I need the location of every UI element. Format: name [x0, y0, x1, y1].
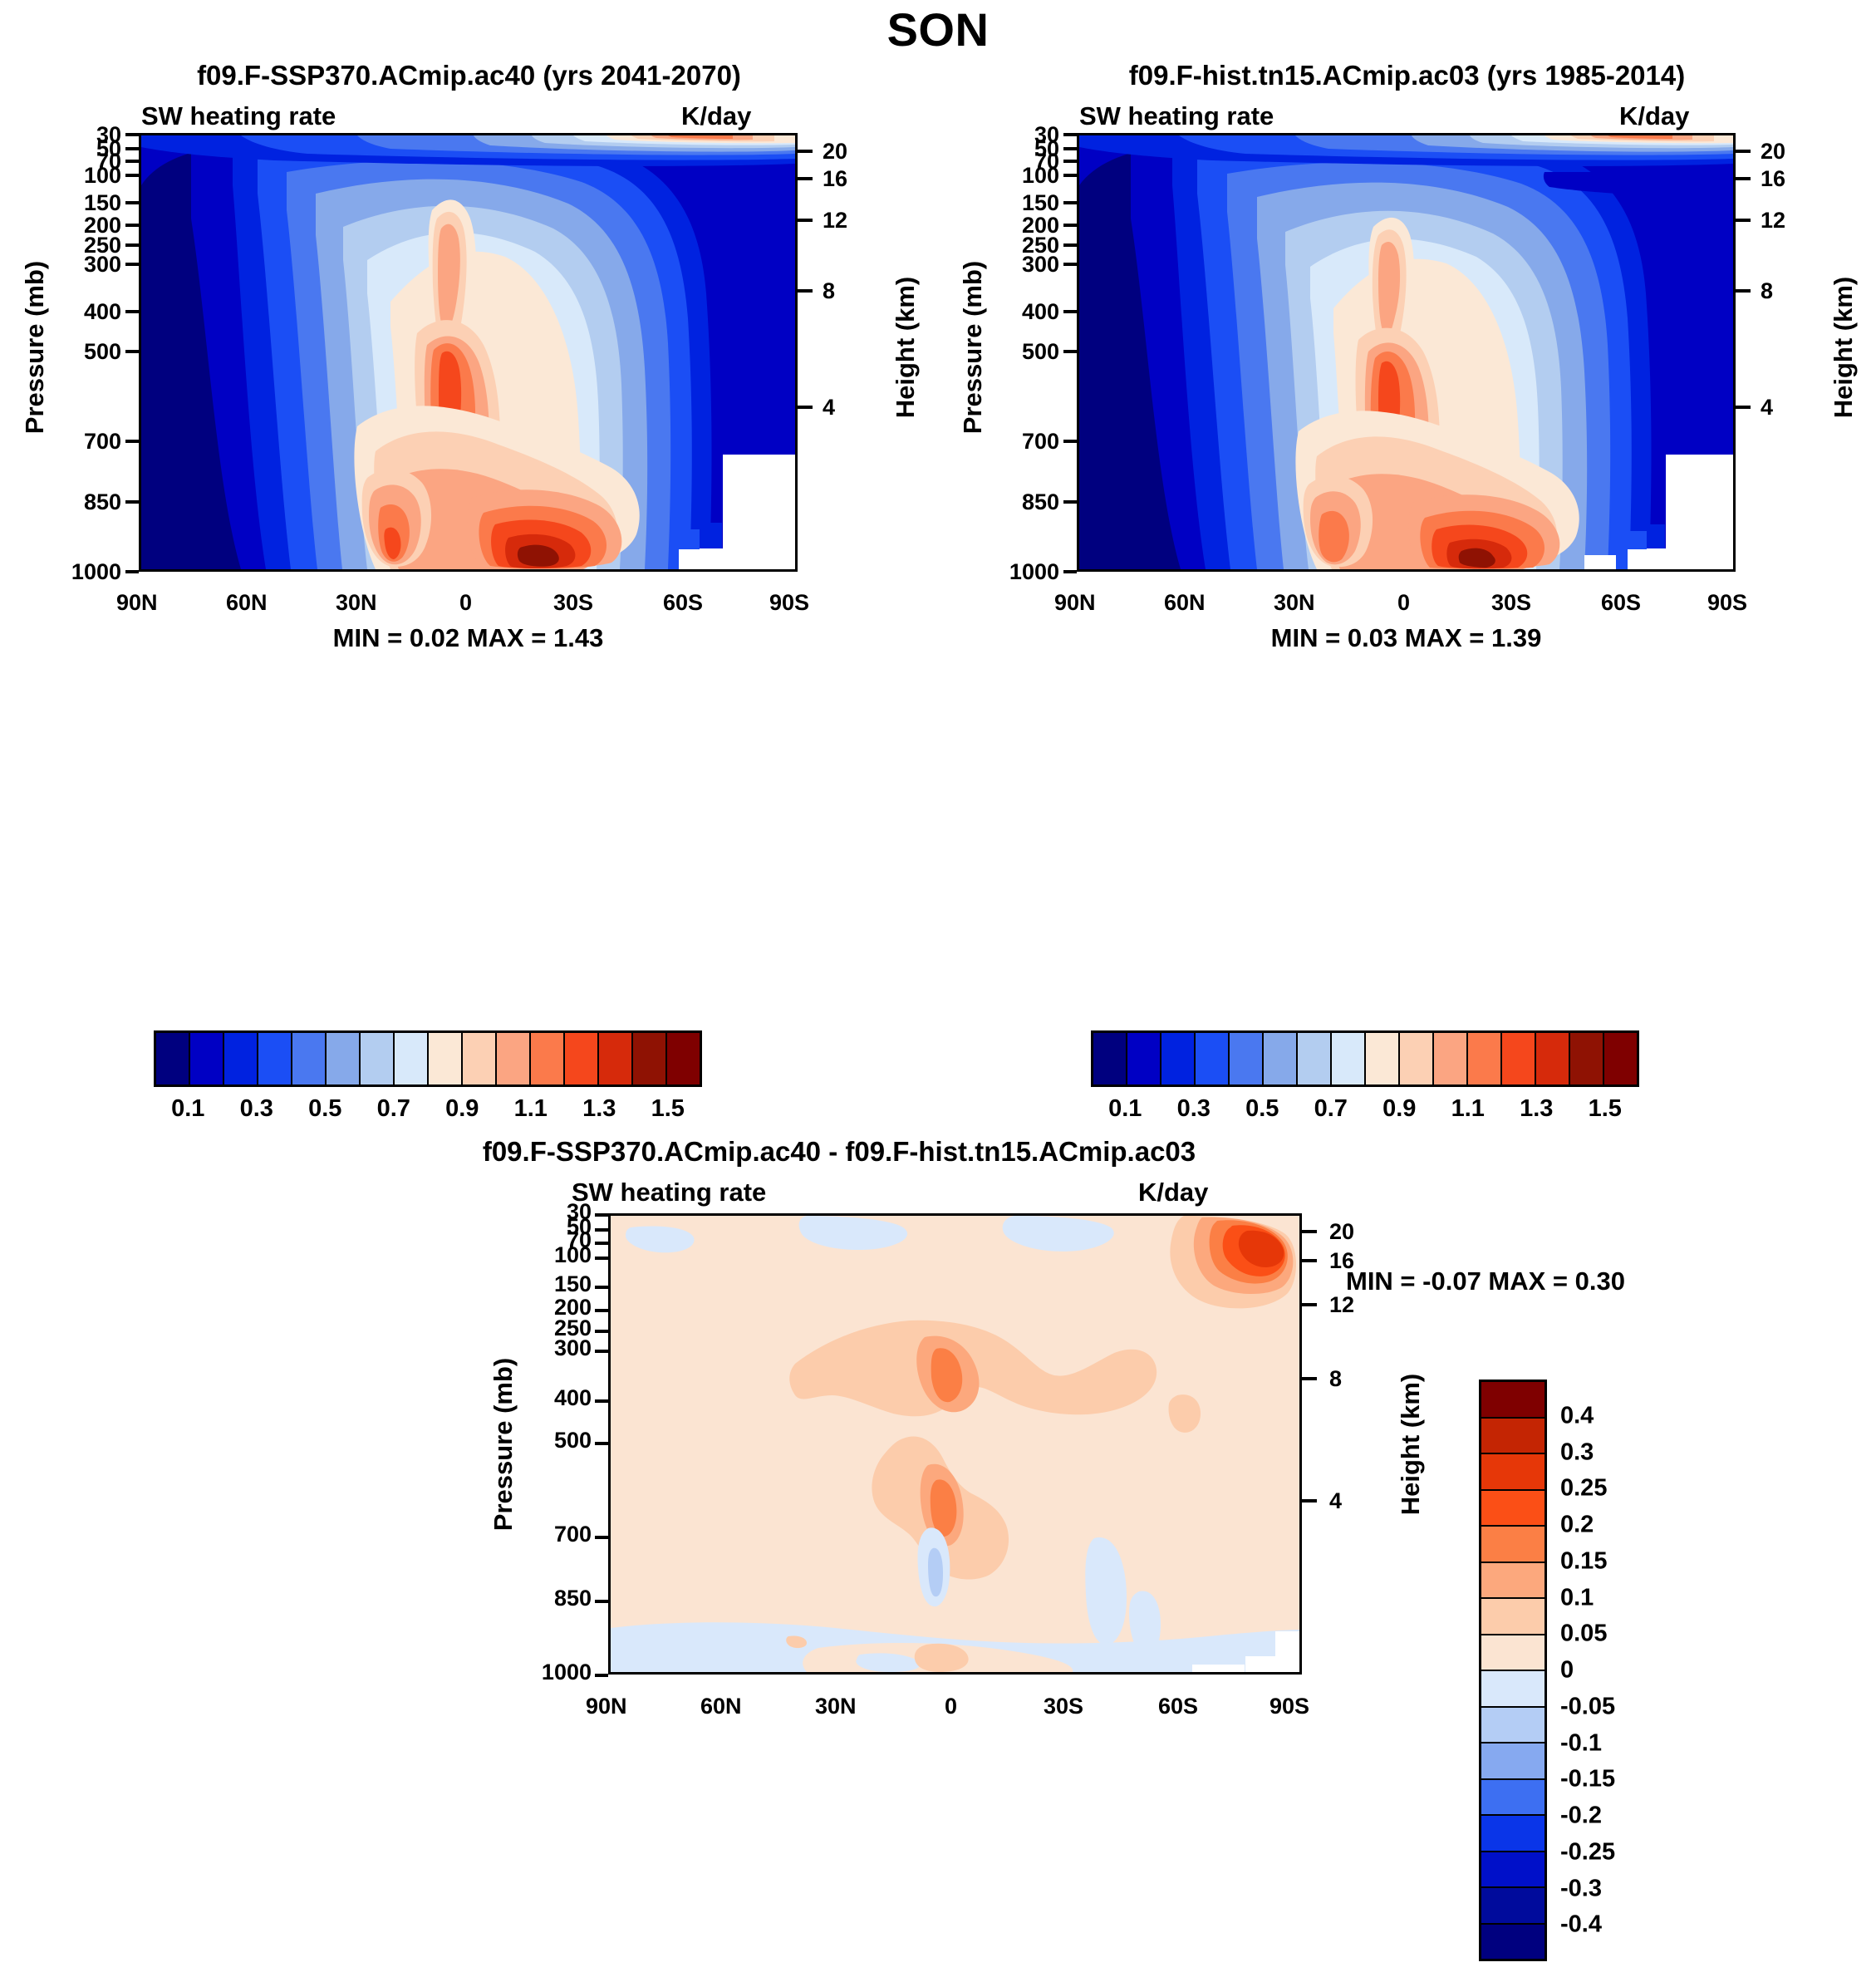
- ytick-label: 100: [520, 1242, 592, 1268]
- xtick-label: 90S: [769, 590, 809, 616]
- colorbar-swatch: [1481, 1635, 1545, 1672]
- rtick-label: 20: [823, 139, 847, 165]
- colorbar-swatch: [1536, 1033, 1570, 1084]
- colorbar-swatch: [565, 1033, 599, 1084]
- colorbar-tick-label: 0.9: [1382, 1095, 1416, 1123]
- ytick-label: 400: [50, 299, 121, 325]
- panel-bottom-diff: f09.F-SSP370.ACmip.ac40 - f09.F-hist.tn1…: [366, 1126, 1363, 1982]
- colorbar-swatch: [1366, 1033, 1400, 1084]
- contour-field-top-left: [141, 135, 795, 569]
- panel-units-bottom: K/day: [1138, 1178, 1208, 1207]
- xtick-label: 60N: [226, 590, 268, 616]
- xtick-label: 60S: [1601, 590, 1641, 616]
- ytick-label: 400: [988, 299, 1059, 325]
- xtick-label: 30N: [1274, 590, 1315, 616]
- panel-varlabel-top-left: SW heating rate: [141, 101, 336, 131]
- raxis-title-bottom: Height (km): [1396, 1336, 1426, 1552]
- colorbar-tick-label: -0.3: [1560, 1875, 1602, 1902]
- xtick-label: 60S: [1158, 1694, 1198, 1719]
- colorbar-swatch: [1468, 1033, 1502, 1084]
- colorbar-tick-label: 1.1: [1451, 1095, 1485, 1123]
- xtick-label: 60N: [1164, 590, 1206, 616]
- figure-super-title: SON: [0, 0, 1876, 55]
- panel-title-bottom: f09.F-SSP370.ACmip.ac40 - f09.F-hist.tn1…: [366, 1136, 1313, 1168]
- ytick-label: 400: [520, 1385, 592, 1411]
- colorbar-swatch: [1093, 1033, 1127, 1084]
- colorbar-swatch: [224, 1033, 258, 1084]
- xtick-label: 30S: [1044, 1694, 1083, 1719]
- ytick-label: 500: [988, 339, 1059, 365]
- xtick-label: 90S: [1707, 590, 1747, 616]
- colorbar-swatch: [1481, 1888, 1545, 1925]
- rtick-label: 12: [1761, 208, 1785, 234]
- xtick-label: 0: [945, 1694, 957, 1719]
- colorbar-tick-label: 0.4: [1560, 1402, 1594, 1429]
- colorbar-tick-label: 0.25: [1560, 1475, 1607, 1502]
- colorbar-swatch: [1481, 1599, 1545, 1635]
- colorbar-swatch: [531, 1033, 565, 1084]
- colorbar-absolute-right-labels: 0.10.30.50.70.91.11.31.5: [1091, 1095, 1639, 1129]
- colorbar-swatch: [1400, 1033, 1434, 1084]
- panel-title-top-right: f09.F-hist.tn15.ACmip.ac03 (yrs 1985-201…: [938, 60, 1876, 91]
- contour-field-top-right: [1079, 135, 1733, 569]
- ytick-label: 1000: [976, 559, 1059, 585]
- colorbar-swatch: [429, 1033, 463, 1084]
- xtick-label: 30N: [815, 1694, 857, 1719]
- colorbar-absolute-right[interactable]: [1091, 1030, 1639, 1087]
- colorbar-swatch: [1332, 1033, 1366, 1084]
- colorbar-swatch: [1481, 1491, 1545, 1527]
- ytick-label: 100: [988, 163, 1059, 189]
- raxis-title-right: Height (km): [1829, 239, 1859, 455]
- xtick-label: 60N: [700, 1694, 742, 1719]
- ytick-label: 1000: [38, 559, 121, 585]
- colorbar-tick-label: -0.2: [1560, 1802, 1602, 1830]
- panel-units-top-left: K/day: [681, 101, 751, 131]
- colorbar-swatch: [1161, 1033, 1196, 1084]
- minmax-bottom-diff: MIN = -0.07 MAX = 0.30: [1346, 1266, 1828, 1296]
- yaxis-title-left: Pressure (mb): [20, 239, 50, 455]
- colorbar-swatch: [1481, 1852, 1545, 1889]
- contour-plot-bottom-diff: [608, 1213, 1302, 1675]
- colorbar-swatch: [361, 1033, 395, 1084]
- xtick-label: 90N: [1054, 590, 1096, 616]
- colorbar-swatch: [1481, 1382, 1545, 1419]
- colorbar-swatch: [1570, 1033, 1604, 1084]
- contour-plot-top-right: [1077, 133, 1736, 572]
- colorbar-swatch: [1434, 1033, 1468, 1084]
- xtick-label: 30S: [553, 590, 593, 616]
- colorbar-tick-label: 0.5: [1245, 1095, 1279, 1123]
- colorbar-swatch: [599, 1033, 633, 1084]
- colorbar-tick-label: 0.1: [1108, 1095, 1142, 1123]
- colorbar-tick-label: 1.1: [514, 1095, 548, 1123]
- yaxis-title-right: Pressure (mb): [958, 239, 988, 455]
- ytick-label: 150: [520, 1271, 592, 1297]
- colorbar-tick-label: 0.1: [1560, 1584, 1594, 1611]
- rtick-label: 20: [1329, 1219, 1354, 1245]
- colorbar-swatch: [1481, 1563, 1545, 1600]
- xtick-label: 0: [459, 590, 472, 616]
- colorbar-tick-label: 0.3: [240, 1095, 273, 1123]
- xtick-label: 0: [1397, 590, 1410, 616]
- ytick-label: 700: [988, 429, 1059, 455]
- ytick-label: 700: [520, 1522, 592, 1547]
- colorbar-swatch: [327, 1033, 361, 1084]
- yaxis-title-bottom: Pressure (mb): [489, 1336, 518, 1552]
- panel-top-left: f09.F-SSP370.ACmip.ac40 (yrs 2041-2070) …: [0, 50, 938, 1147]
- colorbar-tick-label: -0.25: [1560, 1838, 1615, 1866]
- colorbar-swatch: [1298, 1033, 1332, 1084]
- colorbar-swatch: [1196, 1033, 1230, 1084]
- colorbar-swatch: [1230, 1033, 1264, 1084]
- colorbar-tick-label: -0.1: [1560, 1729, 1602, 1757]
- colorbar-tick-label: -0.4: [1560, 1911, 1602, 1939]
- panel-varlabel-top-right: SW heating rate: [1079, 101, 1274, 131]
- xtick-label: 90N: [586, 1694, 627, 1719]
- colorbar-absolute-left[interactable]: [154, 1030, 702, 1087]
- rtick-label: 12: [823, 208, 847, 234]
- rtick-label: 4: [1761, 395, 1773, 420]
- colorbar-tick-label: 0.9: [445, 1095, 479, 1123]
- ytick-label: 300: [520, 1335, 592, 1361]
- contour-plot-top-left: [139, 133, 798, 572]
- colorbar-swatch: [667, 1033, 700, 1084]
- colorbar-swatch: [395, 1033, 429, 1084]
- colorbar-tick-label: 0: [1560, 1657, 1574, 1684]
- colorbar-tick-label: 1.5: [1589, 1095, 1622, 1123]
- raxis-title-left: Height (km): [891, 239, 921, 455]
- rtick-label: 8: [1329, 1366, 1342, 1392]
- ytick-label: 500: [50, 339, 121, 365]
- panel-varlabel-bottom: SW heating rate: [572, 1178, 766, 1207]
- rtick-label: 8: [1761, 278, 1773, 304]
- colorbar-swatch: [1481, 1671, 1545, 1708]
- colorbar-swatch: [156, 1033, 190, 1084]
- panel-title-top-left: f09.F-SSP370.ACmip.ac40 (yrs 2041-2070): [0, 60, 938, 91]
- colorbar-swatch: [258, 1033, 292, 1084]
- colorbar-tick-label: 0.3: [1177, 1095, 1211, 1123]
- colorbar-swatch: [1481, 1419, 1545, 1455]
- colorbar-difference-labels: 0.40.30.250.20.150.10.050-0.05-0.1-0.15-…: [1560, 1380, 1726, 1961]
- panel-units-top-right: K/day: [1619, 101, 1689, 131]
- colorbar-swatch: [1127, 1033, 1161, 1084]
- xtick-label: 60S: [663, 590, 703, 616]
- colorbar-swatch: [1481, 1816, 1545, 1852]
- ytick-label: 300: [988, 252, 1059, 278]
- colorbar-swatch: [1481, 1780, 1545, 1817]
- colorbar-tick-label: 0.2: [1560, 1512, 1594, 1539]
- ytick-label: 1000: [508, 1660, 592, 1685]
- colorbar-swatch: [1264, 1033, 1298, 1084]
- colorbar-swatch: [1481, 1743, 1545, 1780]
- colorbar-tick-label: 0.7: [1314, 1095, 1348, 1123]
- rtick-label: 16: [823, 166, 847, 192]
- colorbar-swatch: [190, 1033, 224, 1084]
- colorbar-tick-label: -0.05: [1560, 1693, 1615, 1720]
- minmax-top-right: MIN = 0.03 MAX = 1.39: [1077, 623, 1736, 653]
- ytick-label: 700: [50, 429, 121, 455]
- colorbar-tick-label: 1.3: [582, 1095, 616, 1123]
- colorbar-tick-label: -0.15: [1560, 1766, 1615, 1793]
- colorbar-swatch: [1604, 1033, 1637, 1084]
- colorbar-tick-label: 1.5: [651, 1095, 685, 1123]
- colorbar-tick-label: 0.3: [1560, 1439, 1594, 1466]
- xtick-label: 30N: [336, 590, 377, 616]
- colorbar-swatch: [292, 1033, 327, 1084]
- ytick-label: 850: [50, 489, 121, 515]
- colorbar-absolute-left-labels: 0.10.30.50.70.91.11.31.5: [154, 1095, 702, 1129]
- ytick-label: 300: [50, 252, 121, 278]
- colorbar-swatch: [1481, 1454, 1545, 1491]
- rtick-label: 16: [1761, 166, 1785, 192]
- xtick-label: 90N: [116, 590, 158, 616]
- xtick-label: 90S: [1269, 1694, 1309, 1719]
- minmax-top-left: MIN = 0.02 MAX = 1.43: [139, 623, 798, 653]
- colorbar-swatch: [1502, 1033, 1536, 1084]
- rtick-label: 4: [823, 395, 835, 420]
- colorbar-tick-label: 0.05: [1560, 1621, 1607, 1648]
- rtick-label: 8: [823, 278, 835, 304]
- rtick-label: 20: [1761, 139, 1785, 165]
- contour-field-bottom-diff: [611, 1216, 1299, 1672]
- colorbar-swatch: [463, 1033, 497, 1084]
- panel-top-right: f09.F-hist.tn15.ACmip.ac03 (yrs 1985-201…: [938, 50, 1876, 1147]
- colorbar-tick-label: 0.5: [308, 1095, 341, 1123]
- colorbar-swatch: [1481, 1708, 1545, 1744]
- colorbar-tick-label: 0.7: [377, 1095, 410, 1123]
- colorbar-tick-label: 1.3: [1520, 1095, 1553, 1123]
- ytick-label: 500: [520, 1428, 592, 1453]
- xtick-label: 30S: [1491, 590, 1531, 616]
- rtick-label: 4: [1329, 1488, 1342, 1514]
- ytick-label: 100: [50, 163, 121, 189]
- ytick-label: 850: [988, 489, 1059, 515]
- colorbar-tick-label: 0.1: [171, 1095, 204, 1123]
- colorbar-difference[interactable]: [1479, 1380, 1547, 1961]
- ytick-label: 850: [520, 1586, 592, 1611]
- colorbar-swatch: [1481, 1925, 1545, 1960]
- colorbar-swatch: [633, 1033, 667, 1084]
- colorbar-swatch: [497, 1033, 531, 1084]
- colorbar-tick-label: 0.15: [1560, 1547, 1607, 1575]
- colorbar-swatch: [1481, 1527, 1545, 1563]
